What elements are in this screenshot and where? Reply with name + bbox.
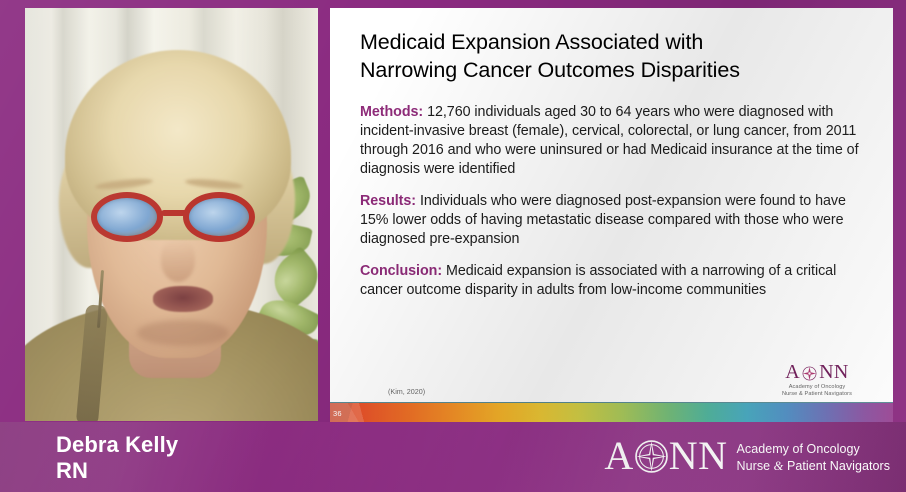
conclusion-label: Conclusion: (360, 263, 442, 279)
slide-content: Medicaid Expansion Associated with Narro… (330, 8, 893, 300)
speaker-mouth (153, 286, 213, 312)
presentation-viewer: Medicaid Expansion Associated with Narro… (0, 0, 906, 492)
slide-aonn-logo: A NN Academy of Oncology Nurse & Patient… (753, 362, 881, 398)
slide-rainbow-strip (330, 403, 893, 422)
compass-rose-icon (802, 365, 817, 380)
footer-logo-subtitle-2-post: Patient Navigators (783, 459, 890, 473)
footer-logo-wordmark: A NN (604, 436, 727, 476)
methods-label: Methods: (360, 104, 423, 120)
speaker-portrait (25, 8, 318, 421)
slide-section-results: Results: Individuals who were diagnosed … (360, 192, 867, 249)
speaker-eyeglasses (91, 190, 263, 246)
slide-logo-subtitle-1: Academy of Oncology (753, 384, 881, 391)
slide-title-line-1: Medicaid Expansion Associated with (360, 30, 703, 54)
slide-logo-letters-nn: NN (819, 362, 849, 382)
ampersand-glyph: & (774, 459, 784, 473)
footer-logo-letters-nn: NN (669, 436, 728, 476)
footer-logo-letter-a: A (604, 436, 633, 476)
slide-section-conclusion: Conclusion: Medicaid expansion is associ… (360, 262, 867, 300)
speaker-nose (161, 240, 195, 282)
slide-logo-wordmark: A NN (753, 362, 881, 382)
footer-logo-subtitle-2: Nurse & Patient Navigators (737, 458, 890, 474)
footer-logo-subtitle-2-pre: Nurse (737, 459, 774, 473)
speaker-credentials: RN (56, 458, 178, 484)
footer-bar: Debra Kelly RN A NN Academy of Oncology (0, 422, 906, 492)
slide-logo-subtitle-2: Nurse & Patient Navigators (753, 391, 881, 398)
speaker-video-feed[interactable] (25, 8, 318, 421)
slide-logo-letter-a: A (785, 362, 800, 382)
speaker-chin-shadow (137, 320, 229, 346)
slide-section-methods: Methods: 12,760 individuals aged 30 to 6… (360, 103, 867, 179)
eyeglass-lens-right (183, 192, 255, 242)
slide-title-line-2: Narrowing Cancer Outcomes Disparities (360, 58, 740, 82)
slide-pane[interactable]: Medicaid Expansion Associated with Narro… (330, 8, 893, 422)
eyeglass-lens-left (91, 192, 163, 242)
speaker-name: Debra Kelly (56, 432, 178, 458)
slide-number-badge: 36 (333, 409, 342, 418)
results-text: Individuals who were diagnosed post-expa… (360, 193, 846, 247)
methods-text: 12,760 individuals aged 30 to 64 years w… (360, 104, 859, 177)
footer-logo-subtitle-1: Academy of Oncology (737, 441, 890, 457)
results-label: Results: (360, 193, 416, 209)
slide-title: Medicaid Expansion Associated with Narro… (360, 28, 867, 85)
compass-rose-icon (635, 440, 668, 473)
footer-logo-subtitle: Academy of Oncology Nurse & Patient Navi… (737, 438, 890, 474)
speaker-nameplate: Debra Kelly RN (56, 432, 178, 484)
slide-citation: (Kim, 2020) (388, 387, 425, 396)
footer-aonn-logo: A NN Academy of Oncology Nurse & Patient… (604, 436, 890, 476)
